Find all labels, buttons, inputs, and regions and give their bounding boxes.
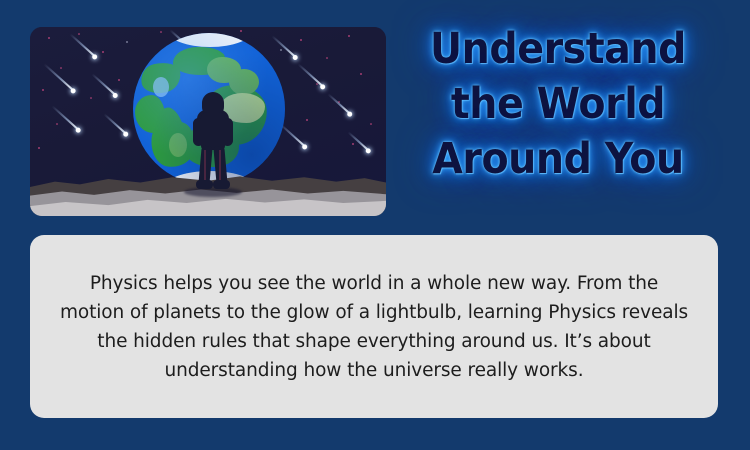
astronaut-silhouette — [190, 92, 236, 192]
poster-canvas: Understand the World Around You Physics … — [0, 0, 750, 450]
astronaut-suit-stripe — [204, 150, 206, 180]
star-icon — [160, 31, 162, 33]
space-illustration — [30, 27, 386, 216]
star-icon — [56, 123, 58, 125]
poster-title: Understand the World Around You — [411, 22, 705, 187]
star-icon — [300, 39, 302, 41]
star-icon — [352, 143, 354, 145]
star-icon — [306, 119, 308, 121]
star-icon — [326, 57, 328, 59]
star-icon — [38, 147, 40, 149]
star-icon — [360, 73, 362, 75]
star-icon — [90, 97, 92, 99]
star-icon — [280, 49, 282, 51]
description-card: Physics helps you see the world in a who… — [30, 235, 718, 418]
astronaut-shadow — [184, 187, 242, 197]
star-icon — [348, 35, 350, 37]
title-line-1: Understand — [411, 22, 705, 77]
star-icon — [370, 123, 372, 125]
astronaut-boot-left — [196, 180, 213, 189]
star-icon — [42, 89, 44, 91]
astronaut-torso — [201, 112, 225, 150]
title-line-2: the World — [411, 77, 705, 132]
star-icon — [48, 37, 50, 39]
description-paragraph: Physics helps you see the world in a who… — [56, 269, 692, 385]
star-icon — [240, 30, 242, 32]
star-icon — [118, 79, 120, 81]
star-icon — [126, 41, 128, 43]
title-line-3: Around You — [411, 132, 705, 187]
star-icon — [78, 33, 80, 35]
star-icon — [60, 67, 62, 69]
star-icon — [102, 51, 104, 53]
astronaut-suit-stripe — [219, 150, 221, 180]
astronaut-boot-right — [213, 180, 230, 189]
